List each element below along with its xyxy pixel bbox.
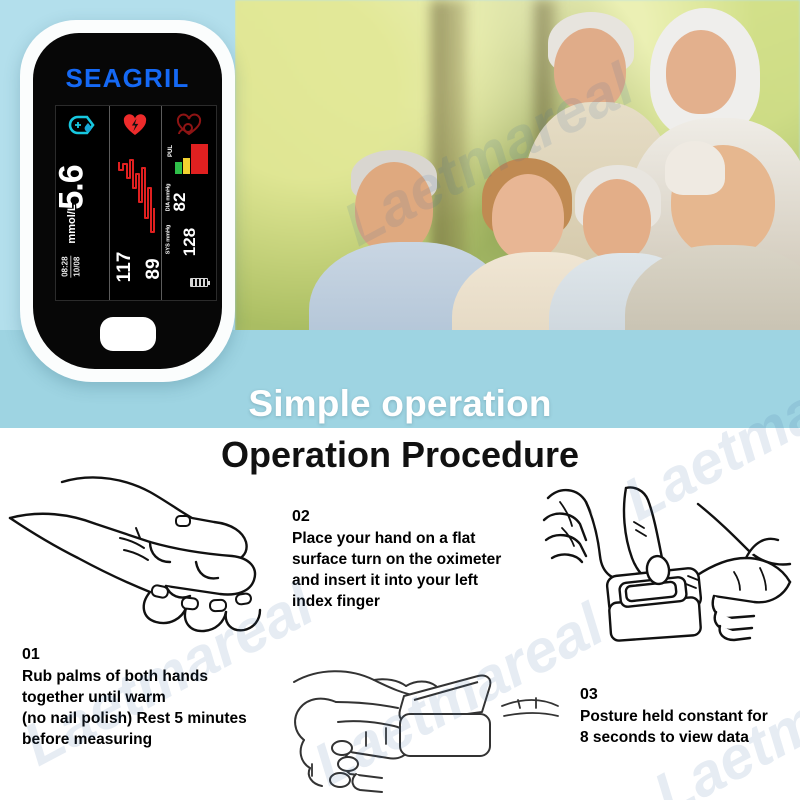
glucose-time: 08:28	[60, 241, 69, 293]
brand-logo: SEAGRIL	[33, 63, 222, 94]
glucose-timestamp: 08:28 10/08	[60, 241, 81, 293]
step-02-number: 02	[292, 505, 557, 529]
sys-value: 128	[180, 216, 200, 268]
step-02-text: Place your hand on a flat surface turn o…	[292, 529, 557, 613]
sys-unit: SYS mmHg	[165, 222, 172, 256]
device-power-button[interactable]	[100, 317, 156, 351]
step-03-number: 03	[580, 683, 795, 707]
bar-green	[175, 162, 182, 174]
pul-label: PUL	[168, 136, 174, 166]
heart-pulse-icon	[110, 110, 161, 140]
dia-unit: DIA mmHg	[165, 180, 172, 214]
device-body: SEAGRIL 5.6 mmol/L 08:28	[33, 33, 222, 369]
bp-level-bars	[175, 142, 209, 174]
headline-simple-operation: Simple operation	[0, 383, 800, 425]
two-hands-rubbing-illustration	[0, 476, 292, 651]
procedure-title: Operation Procedure	[0, 434, 800, 476]
heart-value-primary: 117	[114, 243, 136, 291]
hero-section: Simple operation SEAGRIL 5.6 mmol/L	[0, 0, 800, 428]
hand-resting-with-oximeter-illustration	[278, 650, 563, 800]
blood-pressure-panel: PUL 82 DIA mmHg 128 SYS mmHg	[162, 106, 216, 300]
blood-drop-icon	[56, 110, 109, 140]
glucose-panel: 5.6 mmol/L 08:28 10/08	[56, 106, 109, 300]
photo-fade-overlay	[235, 330, 800, 388]
glucose-date: 10/08	[73, 241, 82, 293]
device-screen: 5.6 mmol/L 08:28 10/08	[55, 105, 217, 301]
bar-yellow	[183, 158, 190, 174]
step-01-number: 01	[22, 643, 292, 667]
step-02: 02 Place your hand on a flat surface tur…	[292, 505, 557, 613]
divider	[71, 256, 72, 278]
step-03: 03 Posture held constant for 8 seconds t…	[580, 683, 795, 749]
step-03-text: Posture held constant for 8 seconds to v…	[580, 707, 795, 749]
step-01-text: Rub palms of both hands together until w…	[22, 667, 292, 751]
step-01: 01 Rub palms of both hands together unti…	[22, 643, 292, 751]
bar-red	[191, 144, 208, 174]
procedure-section: Operation Procedure	[0, 428, 800, 800]
battery-icon	[190, 278, 208, 287]
oximeter-device: SEAGRIL 5.6 mmol/L 08:28	[20, 20, 235, 382]
lifestyle-photo	[235, 0, 800, 385]
ecg-waveform	[116, 158, 158, 250]
heart-panel: 117 89	[109, 106, 162, 300]
finger-inserting-oximeter-illustration	[538, 480, 800, 655]
